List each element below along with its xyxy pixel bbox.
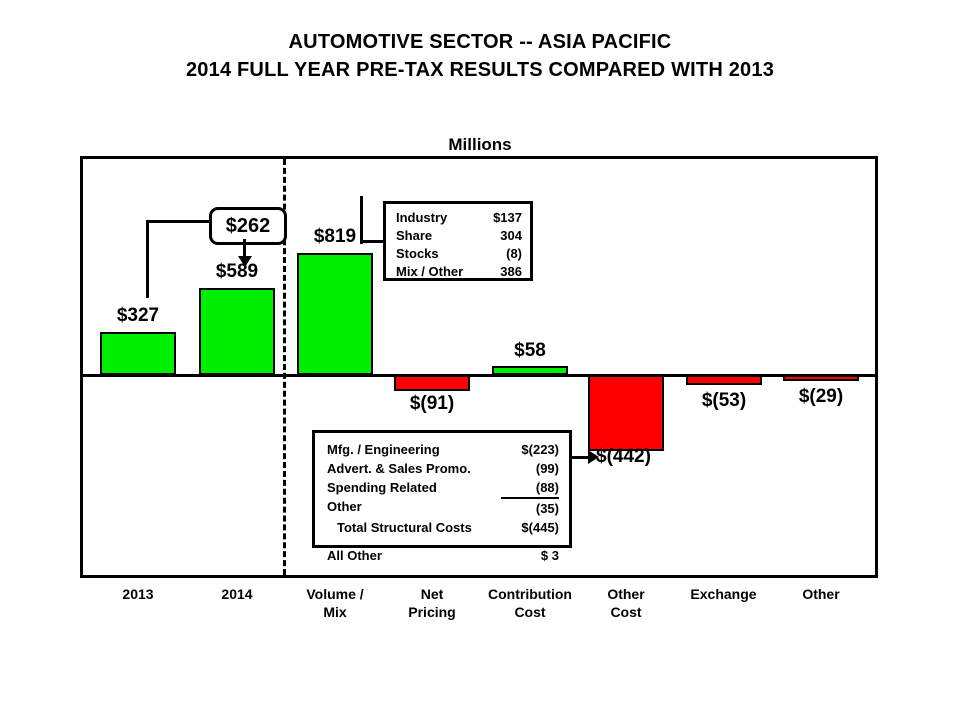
category-line-2: Pricing <box>392 603 472 621</box>
category-label-exchange: Exchange <box>671 585 776 603</box>
volume-box-connector-vertical <box>360 196 363 244</box>
category-label-volume-mix: Volume / Mix <box>295 585 375 621</box>
category-line-2: Cost <box>475 603 585 621</box>
callout-connector-vertical <box>146 220 149 298</box>
detail-label: Mfg. / Engineering <box>327 440 440 459</box>
detail-row: Spending Related (88) <box>327 478 559 497</box>
category-line-1: 2013 <box>98 585 178 603</box>
category-line-1: Other <box>586 585 666 603</box>
bar-2013[interactable] <box>100 332 176 375</box>
detail-value: $137 <box>468 209 522 227</box>
bar-2014[interactable] <box>199 288 275 375</box>
category-line-1: Other <box>781 585 861 603</box>
bar-value-2013: $327 <box>98 305 178 327</box>
bar-volume-mix[interactable] <box>297 253 373 375</box>
bar-other-cost[interactable] <box>588 375 664 451</box>
category-line-2: Cost <box>586 603 666 621</box>
category-line-1: Exchange <box>671 585 776 603</box>
detail-label: Other <box>327 497 362 518</box>
bar-contribution-cost[interactable] <box>492 366 568 375</box>
title-line-1: AUTOMOTIVE SECTOR -- ASIA PACIFIC <box>0 28 960 56</box>
callout-arrow-head-down-icon <box>238 256 252 267</box>
detail-label: Industry <box>396 209 447 227</box>
title-line-2: 2014 FULL YEAR PRE-TAX RESULTS COMPARED … <box>0 56 960 84</box>
detail-row: All Other $ 3 <box>327 546 559 565</box>
detail-row-total: Total Structural Costs $(445) <box>327 518 559 537</box>
slide-canvas: AUTOMOTIVE SECTOR -- ASIA PACIFIC 2014 F… <box>0 0 960 720</box>
other-cost-detail-box: Mfg. / Engineering $(223) Advert. & Sale… <box>312 430 572 548</box>
bar-value-volume-mix: $819 <box>295 226 375 248</box>
detail-row: Share 304 <box>396 227 522 245</box>
bar-value-other-cost: $(442) <box>596 446 686 468</box>
detail-label: Spending Related <box>327 478 437 497</box>
category-line-1: Net <box>392 585 472 603</box>
detail-label: All Other <box>327 546 382 565</box>
category-label-2014: 2014 <box>197 585 277 603</box>
page-title: AUTOMOTIVE SECTOR -- ASIA PACIFIC 2014 F… <box>0 28 960 84</box>
detail-value: (35) <box>501 497 559 518</box>
detail-value: (8) <box>468 245 522 263</box>
detail-value: $(445) <box>501 518 559 537</box>
bar-other[interactable] <box>783 375 859 381</box>
volume-mix-detail-box: Industry $137 Share 304 Stocks (8) Mix /… <box>383 201 533 281</box>
detail-row: Industry $137 <box>396 209 522 227</box>
detail-row: Other (35) <box>327 497 559 518</box>
detail-label: Mix / Other <box>396 263 463 281</box>
detail-row: Mix / Other 386 <box>396 263 522 281</box>
callout-connector-horizontal <box>146 220 210 223</box>
detail-value: 304 <box>468 227 522 245</box>
bar-value-exchange: $(53) <box>684 390 764 412</box>
detail-label: Total Structural Costs <box>327 518 472 537</box>
category-label-contribution-cost: Contribution Cost <box>475 585 585 621</box>
category-label-net-pricing: Net Pricing <box>392 585 472 621</box>
category-line-2: Mix <box>295 603 375 621</box>
bar-exchange[interactable] <box>686 375 762 385</box>
detail-row: Stocks (8) <box>396 245 522 263</box>
detail-row: Advert. & Sales Promo. (99) <box>327 459 559 478</box>
detail-row: Mfg. / Engineering $(223) <box>327 440 559 459</box>
detail-value: 386 <box>468 263 522 281</box>
bar-net-pricing[interactable] <box>394 375 470 391</box>
cost-box-arrow-head-right-icon <box>588 450 599 464</box>
category-label-other: Other <box>781 585 861 603</box>
detail-value: $(223) <box>501 440 559 459</box>
category-label-2013: 2013 <box>98 585 178 603</box>
category-line-1: 2014 <box>197 585 277 603</box>
detail-label: Stocks <box>396 245 439 263</box>
callout-delta-262[interactable]: $262 <box>209 207 287 245</box>
bar-value-net-pricing: $(91) <box>392 393 472 415</box>
bar-value-contribution-cost: $58 <box>490 340 570 362</box>
units-label: Millions <box>0 135 960 155</box>
category-line-1: Contribution <box>475 585 585 603</box>
detail-value: $ 3 <box>501 546 559 565</box>
detail-label: Share <box>396 227 432 245</box>
bar-value-2014: $589 <box>197 261 277 283</box>
detail-value: (88) <box>501 478 559 497</box>
category-label-other-cost: Other Cost <box>586 585 666 621</box>
bar-value-other: $(29) <box>781 386 861 408</box>
category-line-1: Volume / <box>295 585 375 603</box>
detail-value: (99) <box>501 459 559 478</box>
detail-label: Advert. & Sales Promo. <box>327 459 471 478</box>
